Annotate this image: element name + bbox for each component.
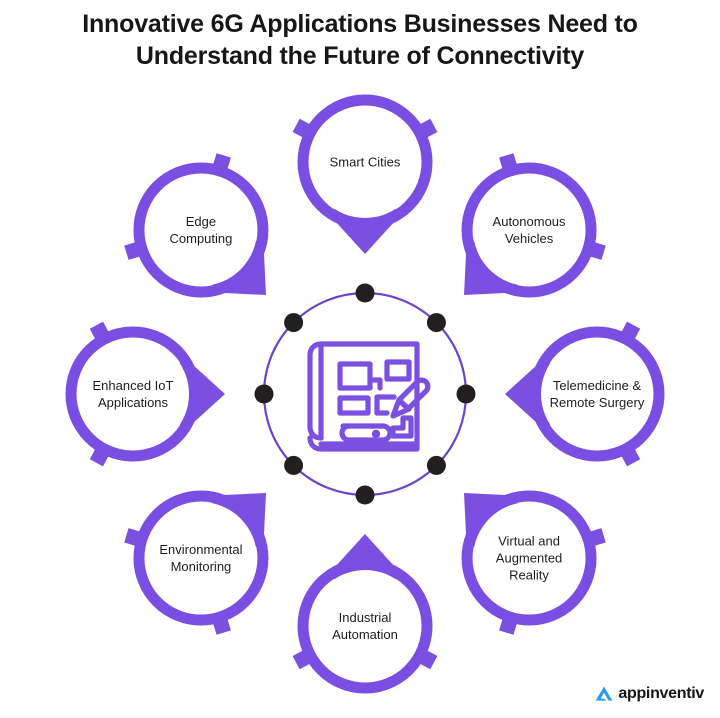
logo-text: appinventiv (618, 684, 704, 704)
appinventiv-logo: appinventiv (594, 684, 704, 704)
orbit-dot-edge-computing (284, 313, 303, 332)
ring-fill-telemedicine-remote-surgery (541, 338, 653, 450)
ring-fill-autonomous-vehicles (473, 174, 585, 286)
ring-fill-edge-computing (145, 174, 257, 286)
orbit-dots-layer (255, 284, 476, 505)
page-title: Innovative 6G Applications Businesses Ne… (0, 8, 720, 72)
orbit-dot-virtual-augmented-reality (427, 456, 446, 475)
infographic-root: Innovative 6G Applications Businesses Ne… (0, 0, 720, 718)
node-smart-cities[interactable] (303, 100, 427, 254)
orbit-dot-telemedicine-remote-surgery (457, 385, 476, 404)
node-autonomous-vehicles[interactable] (462, 168, 591, 297)
orbit-dot-industrial-automation (356, 486, 375, 505)
title-line-1: Innovative 6G Applications Businesses Ne… (0, 8, 720, 40)
orbit-dot-autonomous-vehicles (427, 313, 446, 332)
ring-fill-enhanced-iot-applications (77, 338, 189, 450)
node-enhanced-iot-applications[interactable] (71, 332, 225, 456)
ring-fill-environmental-monitoring (145, 502, 257, 614)
node-environmental-monitoring[interactable] (139, 491, 268, 620)
ring-fill-virtual-augmented-reality (473, 502, 585, 614)
node-rings-layer (71, 100, 659, 688)
orbit-dot-enhanced-iot-applications (255, 385, 274, 404)
circular-diagram: Smart CitiesAutonomousVehiclesTelemedici… (0, 0, 720, 718)
node-industrial-automation[interactable] (303, 534, 427, 688)
ring-fill-smart-cities (309, 106, 421, 218)
node-virtual-augmented-reality[interactable] (462, 491, 591, 620)
diagram-canvas (0, 0, 720, 718)
title-line-2: Understand the Future of Connectivity (0, 40, 720, 72)
orbit-dot-environmental-monitoring (284, 456, 303, 475)
node-edge-computing[interactable] (139, 168, 268, 297)
node-telemedicine-remote-surgery[interactable] (505, 332, 659, 456)
appinventiv-triangle-logo (594, 684, 614, 704)
orbit-dot-smart-cities (356, 284, 375, 303)
ring-fill-industrial-automation (309, 570, 421, 682)
blueprint-plan-pencil-icon (310, 344, 428, 449)
